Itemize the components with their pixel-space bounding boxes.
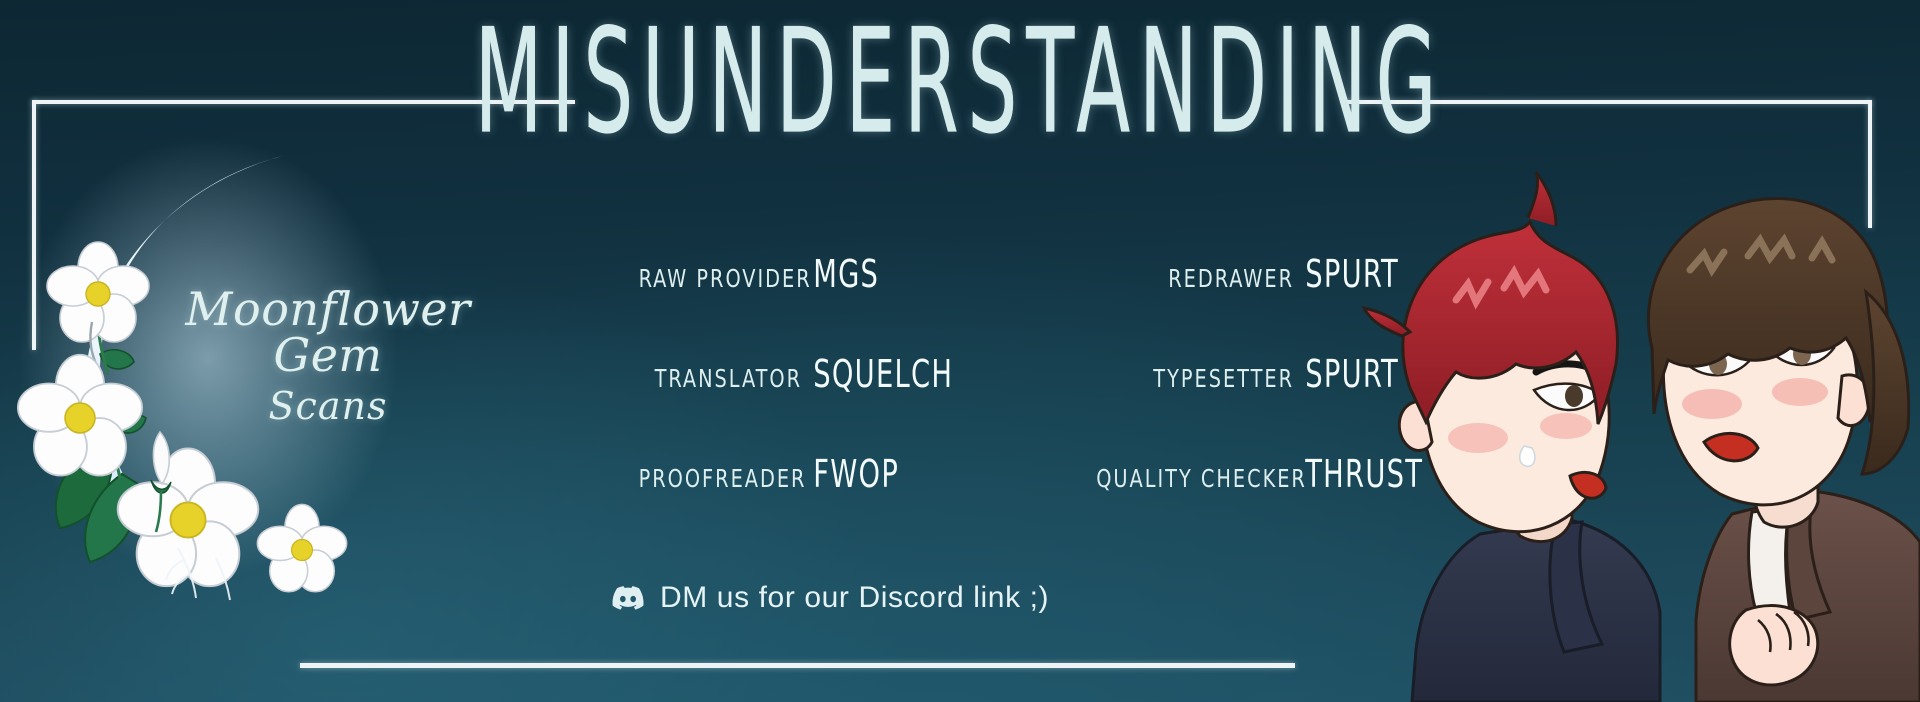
moonflower-gem-logo: Moonflower Gem Scans [38,118,498,578]
brown-haired-boy [1648,198,1920,702]
red-haired-boy [1364,172,1660,702]
discord-invite-text: DM us for our Discord link ;) [660,581,1049,615]
credit-role-label: REDRAWER [1096,264,1294,293]
credit-role-label: TRANSLATOR [639,364,802,393]
credit-row: PROOFREADER FWOP [612,452,1032,496]
credit-person-value: FWOP [802,452,986,496]
crescent-moon-icon [38,118,498,578]
credit-row: TRANSLATOR SQUELCH [612,352,1032,396]
credit-role-label: PROOFREADER [639,464,802,493]
credit-person-value: MGS [802,252,986,296]
credit-role-label: QUALITY CHECKER [1096,464,1294,493]
hand [1730,606,1818,685]
two-boys-illustration [1360,142,1920,702]
frame-bottom-line [300,663,1295,668]
credit-role-label: TYPESETTER [1096,364,1294,393]
credits-banner: MISUNDERSTANDING [0,0,1920,702]
sweat-drop [1520,446,1535,466]
credits-column-left: RAW PROVIDER MGS TRANSLATOR SQUELCH PROO… [612,252,1032,496]
credit-row: RAW PROVIDER MGS [612,252,1032,296]
credit-person-value: SQUELCH [802,352,986,396]
credit-role-label: RAW PROVIDER [639,264,802,293]
discord-icon [612,586,644,610]
character-artwork [1360,142,1920,702]
discord-invite[interactable]: DM us for our Discord link ;) [612,581,1049,615]
